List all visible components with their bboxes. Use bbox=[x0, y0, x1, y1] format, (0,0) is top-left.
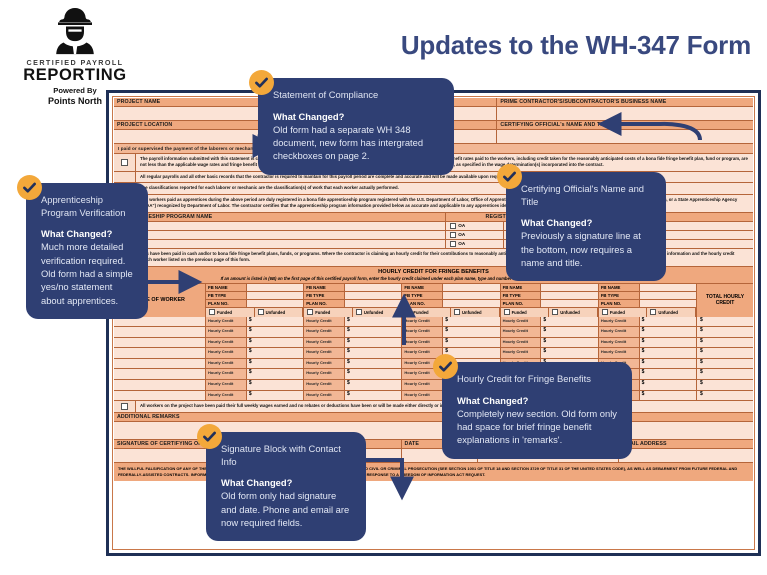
funded-label: Funded bbox=[217, 310, 232, 315]
total-hourly-credit-input[interactable]: $ bbox=[697, 317, 753, 327]
hourly-credit-label: Hourly Credit bbox=[402, 317, 443, 327]
callout-what-label: What Changed? bbox=[273, 111, 441, 122]
callout-title: Certifying Official's Name and Title bbox=[521, 183, 653, 208]
oa-label: OA bbox=[458, 223, 465, 228]
hourly-credit-input[interactable]: $ bbox=[640, 348, 696, 358]
hourly-credit-input[interactable]: $ bbox=[345, 359, 401, 369]
funded-checkbox[interactable]: Funded bbox=[206, 308, 255, 317]
hourly-credit-label: Hourly Credit bbox=[402, 327, 443, 337]
total-hourly-credit-input[interactable]: $ bbox=[697, 391, 753, 401]
total-hourly-credit-input[interactable]: $ bbox=[697, 380, 753, 390]
oa-checkbox[interactable]: OA bbox=[446, 222, 504, 230]
hourly-credit-label: Hourly Credit bbox=[304, 338, 345, 348]
funded-label: Funded bbox=[315, 310, 330, 315]
worker-name-input[interactable] bbox=[114, 348, 206, 358]
hourly-credit-input[interactable]: $ bbox=[345, 348, 401, 358]
fringe-credit-rows: Hourly Credit$Hourly Credit$Hourly Credi… bbox=[114, 317, 753, 402]
hourly-credit-input[interactable]: $ bbox=[443, 338, 499, 348]
hourly-credit-label: Hourly Credit bbox=[304, 380, 345, 390]
unfunded-checkbox[interactable]: Unfunded bbox=[647, 308, 696, 317]
apprenticeship-program-input[interactable] bbox=[114, 231, 446, 239]
unfunded-label: Unfunded bbox=[364, 310, 384, 315]
fb-name-input[interactable] bbox=[640, 284, 696, 291]
page-title: Updates to the WH-347 Form bbox=[401, 30, 751, 61]
funded-label: Funded bbox=[413, 310, 428, 315]
hourly-credit-input[interactable]: $ bbox=[345, 327, 401, 337]
check-icon bbox=[497, 164, 522, 189]
hourly-credit-label: Hourly Credit bbox=[206, 338, 247, 348]
hourly-credit-label: Hourly Credit bbox=[206, 317, 247, 327]
hourly-credit-input[interactable]: $ bbox=[443, 317, 499, 327]
fb-type-input[interactable] bbox=[443, 292, 499, 299]
fb-name-input[interactable] bbox=[443, 284, 499, 291]
hourly-credit-label: Hourly Credit bbox=[206, 348, 247, 358]
hourly-credit-input[interactable]: $ bbox=[247, 380, 303, 390]
total-hourly-credit-input[interactable]: $ bbox=[697, 338, 753, 348]
callout-title: Signature Block with Contact Info bbox=[221, 443, 353, 468]
oa-label: OA bbox=[458, 232, 465, 237]
worker-name-input[interactable] bbox=[114, 380, 206, 390]
fb-name-input[interactable] bbox=[541, 284, 597, 291]
hourly-credit-label: Hourly Credit bbox=[304, 317, 345, 327]
table-row: ADDITIONAL REMARKS bbox=[114, 413, 753, 422]
fb-type-input[interactable] bbox=[247, 292, 303, 299]
total-hourly-credit-header: TOTAL HOURLY CREDIT bbox=[697, 284, 753, 317]
callout-title: Hourly Credit for Fringe Benefits bbox=[457, 373, 619, 386]
callout-body: Completely new section. Old form only ha… bbox=[457, 407, 619, 447]
total-hourly-credit-input[interactable]: $ bbox=[697, 327, 753, 337]
plan-no-label: PLAN NO. bbox=[599, 300, 640, 307]
fb-type-label: FB TYPE bbox=[304, 292, 345, 299]
apprenticeship-program-input[interactable] bbox=[114, 240, 446, 248]
hourly-credit-label: Hourly Credit bbox=[206, 327, 247, 337]
plan-no-input[interactable] bbox=[247, 300, 303, 307]
funded-checkbox[interactable]: Funded bbox=[501, 308, 550, 317]
table-row: Hourly Credit$Hourly Credit$Hourly Credi… bbox=[114, 327, 753, 338]
plan-no-input[interactable] bbox=[541, 300, 597, 307]
callout-certifying-officials-name-and-title[interactable]: Certifying Official's Name and Title Wha… bbox=[506, 172, 666, 281]
unfunded-checkbox[interactable]: Unfunded bbox=[255, 308, 304, 317]
hourly-credit-label: Hourly Credit bbox=[304, 348, 345, 358]
oa-checkbox[interactable]: OA bbox=[446, 231, 504, 239]
hourly-credit-label: Hourly Credit bbox=[402, 380, 443, 390]
plan-no-input[interactable] bbox=[345, 300, 401, 307]
certifying-official-input[interactable] bbox=[497, 130, 753, 143]
statement-2-spacer bbox=[114, 172, 136, 182]
hourly-credit-input[interactable]: $ bbox=[345, 338, 401, 348]
fb-type-label: FB TYPE bbox=[402, 292, 443, 299]
hourly-credit-input[interactable]: $ bbox=[640, 317, 696, 327]
fb-type-label: FB TYPE bbox=[501, 292, 542, 299]
hourly-credit-input[interactable]: $ bbox=[345, 317, 401, 327]
hourly-credit-input[interactable]: $ bbox=[443, 327, 499, 337]
hourly-credit-label: Hourly Credit bbox=[501, 327, 542, 337]
unfunded-label: Unfunded bbox=[560, 310, 580, 315]
fb-type-input[interactable] bbox=[541, 292, 597, 299]
fb-name-label: FB NAME bbox=[501, 284, 542, 291]
fb-group-1: FB NAME FB TYPE PLAN NO. FundedUnfunded bbox=[206, 284, 304, 317]
funded-checkbox[interactable]: Funded bbox=[599, 308, 648, 317]
fb-type-input[interactable] bbox=[640, 292, 696, 299]
fb-type-label: FB TYPE bbox=[206, 292, 247, 299]
callout-hourly-credit-for-fringe-benefits[interactable]: Hourly Credit for Fringe Benefits What C… bbox=[442, 362, 632, 459]
table-row: Hourly Credit$Hourly Credit$Hourly Credi… bbox=[114, 317, 753, 328]
hourly-credit-label: Hourly Credit bbox=[304, 391, 345, 401]
funded-label: Funded bbox=[610, 310, 625, 315]
apprenticeship-program-name-header: APPRENTICESHIP PROGRAM NAME bbox=[114, 213, 446, 221]
table-row: Hourly Credit$Hourly Credit$Hourly Credi… bbox=[114, 391, 753, 402]
funded-checkbox[interactable]: Funded bbox=[304, 308, 353, 317]
worker-name-input[interactable] bbox=[114, 338, 206, 348]
hourly-credit-input[interactable]: $ bbox=[345, 380, 401, 390]
callout-title: Apprenticeship Program Verification bbox=[41, 194, 135, 219]
callout-apprenticeship-program-verification[interactable]: Apprenticeship Program Verification What… bbox=[26, 183, 148, 319]
hourly-credit-label: Hourly Credit bbox=[304, 327, 345, 337]
hourly-credit-label: Hourly Credit bbox=[599, 327, 640, 337]
fb-group-2: FB NAME FB TYPE PLAN NO. FundedUnfunded bbox=[304, 284, 402, 317]
hourly-credit-input[interactable]: $ bbox=[247, 317, 303, 327]
worker-name-input[interactable] bbox=[114, 391, 206, 401]
hourly-credit-input[interactable]: $ bbox=[247, 338, 303, 348]
check-icon bbox=[17, 175, 42, 200]
hourly-credit-input[interactable]: $ bbox=[541, 338, 597, 348]
plan-no-label: PLAN NO. bbox=[206, 300, 247, 307]
unfunded-checkbox[interactable]: Unfunded bbox=[353, 308, 402, 317]
certifying-official-header: CERTIFYING OFFICIAL's NAME AND TITLE bbox=[497, 121, 753, 129]
hourly-credit-input[interactable]: $ bbox=[640, 359, 696, 369]
callout-signature-block-with-contact-info[interactable]: Signature Block with Contact Info What C… bbox=[206, 432, 366, 541]
check-icon bbox=[249, 70, 274, 95]
funded-checkbox[interactable]: Funded bbox=[402, 308, 451, 317]
worker-name-input[interactable] bbox=[114, 327, 206, 337]
statement-1-checkbox[interactable] bbox=[114, 154, 136, 171]
hourly-credit-label: Hourly Credit bbox=[206, 369, 247, 379]
table-row: Hourly Credit$Hourly Credit$Hourly Credi… bbox=[114, 348, 753, 359]
hourly-credit-input[interactable]: $ bbox=[541, 327, 597, 337]
fb-name-label: FB NAME bbox=[304, 284, 345, 291]
fb-group-4: FB NAME FB TYPE PLAN NO. FundedUnfunded bbox=[501, 284, 599, 317]
plan-no-label: PLAN NO. bbox=[501, 300, 542, 307]
check-icon bbox=[433, 354, 458, 379]
unfunded-label: Unfunded bbox=[462, 310, 482, 315]
worker-name-input[interactable] bbox=[114, 359, 206, 369]
callout-what-label: What Changed? bbox=[457, 395, 619, 406]
plan-no-input[interactable] bbox=[443, 300, 499, 307]
email-header: EMAIL ADDRESS bbox=[619, 440, 753, 448]
hourly-credit-input[interactable]: $ bbox=[247, 391, 303, 401]
logo-line-2: REPORTING bbox=[10, 67, 140, 84]
fb-type-label: FB TYPE bbox=[599, 292, 640, 299]
total-hourly-credit-input[interactable]: $ bbox=[697, 369, 753, 379]
hourly-credit-input[interactable]: $ bbox=[640, 327, 696, 337]
hourly-credit-label: Hourly Credit bbox=[599, 348, 640, 358]
check-icon bbox=[197, 424, 222, 449]
hourly-credit-input[interactable]: $ bbox=[345, 369, 401, 379]
hourly-credit-label: Hourly Credit bbox=[599, 317, 640, 327]
fb-group-5: FB NAME FB TYPE PLAN NO. FundedUnfunded bbox=[599, 284, 697, 317]
callout-statement-of-compliance[interactable]: Statement of Compliance What Changed? Ol… bbox=[258, 78, 454, 175]
hourly-credit-input[interactable]: $ bbox=[345, 391, 401, 401]
hourly-credit-input[interactable]: $ bbox=[247, 348, 303, 358]
callout-body: Previously a signature line at the botto… bbox=[521, 229, 653, 269]
funded-label: Funded bbox=[512, 310, 527, 315]
hourly-credit-label: Hourly Credit bbox=[206, 380, 247, 390]
total-hourly-credit-input[interactable]: $ bbox=[697, 348, 753, 358]
hourly-credit-label: Hourly Credit bbox=[402, 391, 443, 401]
plan-no-input[interactable] bbox=[640, 300, 696, 307]
hourly-credit-input[interactable]: $ bbox=[247, 369, 303, 379]
prime-contractor-input[interactable] bbox=[497, 107, 753, 120]
plan-no-label: PLAN NO. bbox=[402, 300, 443, 307]
hourly-credit-input[interactable]: $ bbox=[541, 317, 597, 327]
apprenticeship-program-input[interactable] bbox=[114, 222, 446, 230]
fb-name-input[interactable] bbox=[247, 284, 303, 291]
hourly-credit-label: Hourly Credit bbox=[501, 338, 542, 348]
callout-body: Old form had a separate WH 348 document,… bbox=[273, 123, 441, 163]
hourly-credit-label: Hourly Credit bbox=[402, 338, 443, 348]
total-hourly-credit-input[interactable]: $ bbox=[697, 359, 753, 369]
plan-no-label: PLAN NO. bbox=[304, 300, 345, 307]
hourly-credit-input[interactable]: $ bbox=[247, 327, 303, 337]
hourly-credit-input[interactable]: $ bbox=[640, 369, 696, 379]
callout-what-label: What Changed? bbox=[521, 217, 653, 228]
table-row: Hourly Credit$Hourly Credit$Hourly Credi… bbox=[114, 380, 753, 391]
callout-what-label: What Changed? bbox=[41, 228, 135, 239]
fb-name-input[interactable] bbox=[345, 284, 401, 291]
hourly-credit-input[interactable]: $ bbox=[247, 359, 303, 369]
worker-name-input[interactable] bbox=[114, 369, 206, 379]
hourly-credit-label: Hourly Credit bbox=[304, 369, 345, 379]
unfunded-checkbox[interactable]: Unfunded bbox=[549, 308, 598, 317]
additional-remarks-header: ADDITIONAL REMARKS bbox=[114, 413, 753, 421]
oa-checkbox[interactable]: OA bbox=[446, 240, 504, 248]
hourly-credit-label: Hourly Credit bbox=[206, 391, 247, 401]
rebate-checkbox[interactable] bbox=[114, 401, 136, 411]
fb-type-input[interactable] bbox=[345, 292, 401, 299]
unfunded-label: Unfunded bbox=[266, 310, 286, 315]
prime-contractor-header: PRIME CONTRACTOR'S/SUBCONTRACTOR'S BUSIN… bbox=[497, 98, 753, 106]
oa-label: OA bbox=[458, 241, 465, 246]
hourly-credit-input[interactable]: $ bbox=[640, 391, 696, 401]
hourly-credit-input[interactable]: $ bbox=[541, 348, 597, 358]
hourly-credit-input[interactable]: $ bbox=[640, 380, 696, 390]
hard-hat-worker-icon bbox=[52, 6, 98, 56]
callout-body: Old form only had signature and date. Ph… bbox=[221, 489, 353, 529]
fb-name-label: FB NAME bbox=[206, 284, 247, 291]
callout-title: Statement of Compliance bbox=[273, 89, 441, 102]
callout-what-label: What Changed? bbox=[221, 477, 353, 488]
fringe-table-header: NAME OF WORKER FB NAME FB TYPE PLAN NO. … bbox=[114, 284, 753, 317]
callout-body: Much more detailed verification required… bbox=[41, 240, 135, 307]
hourly-credit-title: HOURLY CREDIT FOR FRINGE BENEFITS bbox=[378, 269, 489, 275]
slide-canvas: CERTIFIED PAYROLL REPORTING Powered By P… bbox=[0, 0, 767, 575]
unfunded-label: Unfunded bbox=[658, 310, 678, 315]
table-row: Hourly Credit$Hourly Credit$Hourly Credi… bbox=[114, 338, 753, 349]
hourly-credit-label: Hourly Credit bbox=[304, 359, 345, 369]
fb-name-label: FB NAME bbox=[402, 284, 443, 291]
fb-name-label: FB NAME bbox=[599, 284, 640, 291]
hourly-credit-label: Hourly Credit bbox=[501, 348, 542, 358]
email-input[interactable] bbox=[619, 449, 753, 462]
hourly-credit-label: Hourly Credit bbox=[599, 338, 640, 348]
unfunded-checkbox[interactable]: Unfunded bbox=[451, 308, 500, 317]
hourly-credit-input[interactable]: $ bbox=[640, 338, 696, 348]
hourly-credit-label: Hourly Credit bbox=[206, 359, 247, 369]
fb-group-3: FB NAME FB TYPE PLAN NO. FundedUnfunded bbox=[402, 284, 500, 317]
table-row: All workers on the project have been pai… bbox=[114, 401, 753, 412]
hourly-credit-label: Hourly Credit bbox=[501, 317, 542, 327]
